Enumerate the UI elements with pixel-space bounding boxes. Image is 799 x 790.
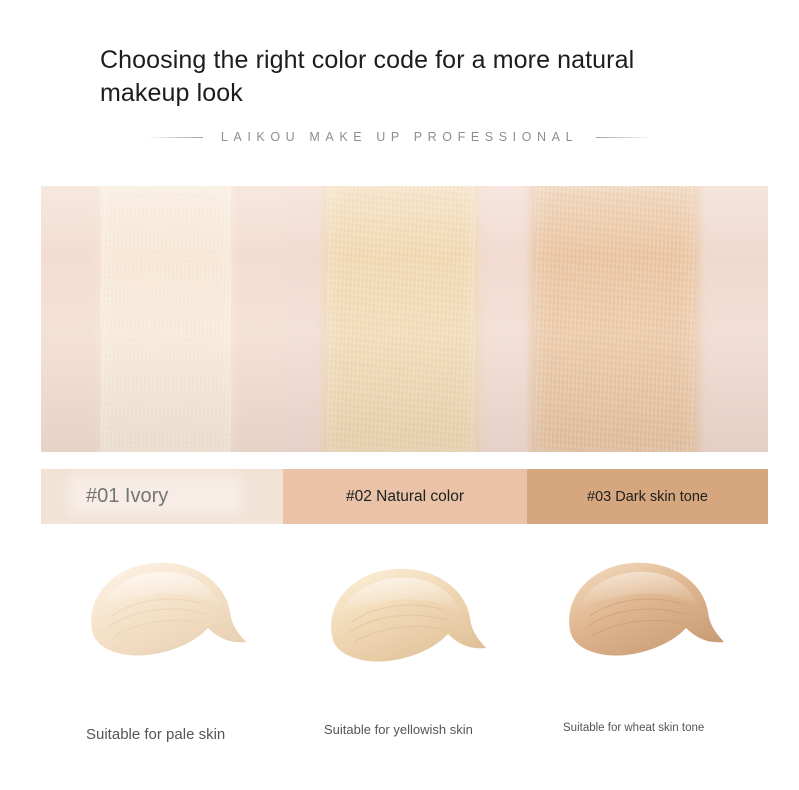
shade-caption-01: Suitable for pale skin: [86, 726, 225, 743]
shade-label-02-text: #02 Natural color: [346, 488, 464, 506]
swatch-cell-01: [41, 186, 285, 452]
swatch-sheen-02: [285, 186, 527, 452]
shade-swatch-panel: [41, 186, 768, 452]
foundation-dollop-02: [318, 562, 488, 677]
shade-label-03-text: #03 Dark skin tone: [587, 489, 708, 505]
shade-label-bar: #01 Ivory #02 Natural color #03 Dark ski…: [41, 469, 768, 524]
shade-label-01-text: #01 Ivory: [86, 485, 168, 508]
tagline-rule-left: [147, 137, 203, 138]
foundation-dollop-row: [0, 540, 799, 715]
swatch-sheen-01: [41, 186, 285, 452]
swatch-cell-03: [527, 186, 768, 452]
swatch-sheen-03: [527, 186, 768, 452]
foundation-dollop-03: [556, 556, 726, 671]
shade-caption-02: Suitable for yellowish skin: [324, 722, 473, 737]
tagline-text: LAIKOU MAKE UP PROFESSIONAL: [221, 130, 578, 144]
foundation-dollop-01: [78, 556, 248, 671]
shade-label-02[interactable]: #02 Natural color: [283, 469, 527, 524]
brand-tagline: LAIKOU MAKE UP PROFESSIONAL: [0, 130, 799, 144]
shade-caption-03: Suitable for wheat skin tone: [563, 722, 704, 734]
shade-label-03[interactable]: #03 Dark skin tone: [527, 469, 768, 524]
page-title: Choosing the right color code for a more…: [100, 44, 700, 111]
swatch-cell-02: [285, 186, 527, 452]
tagline-rule-right: [596, 137, 652, 138]
